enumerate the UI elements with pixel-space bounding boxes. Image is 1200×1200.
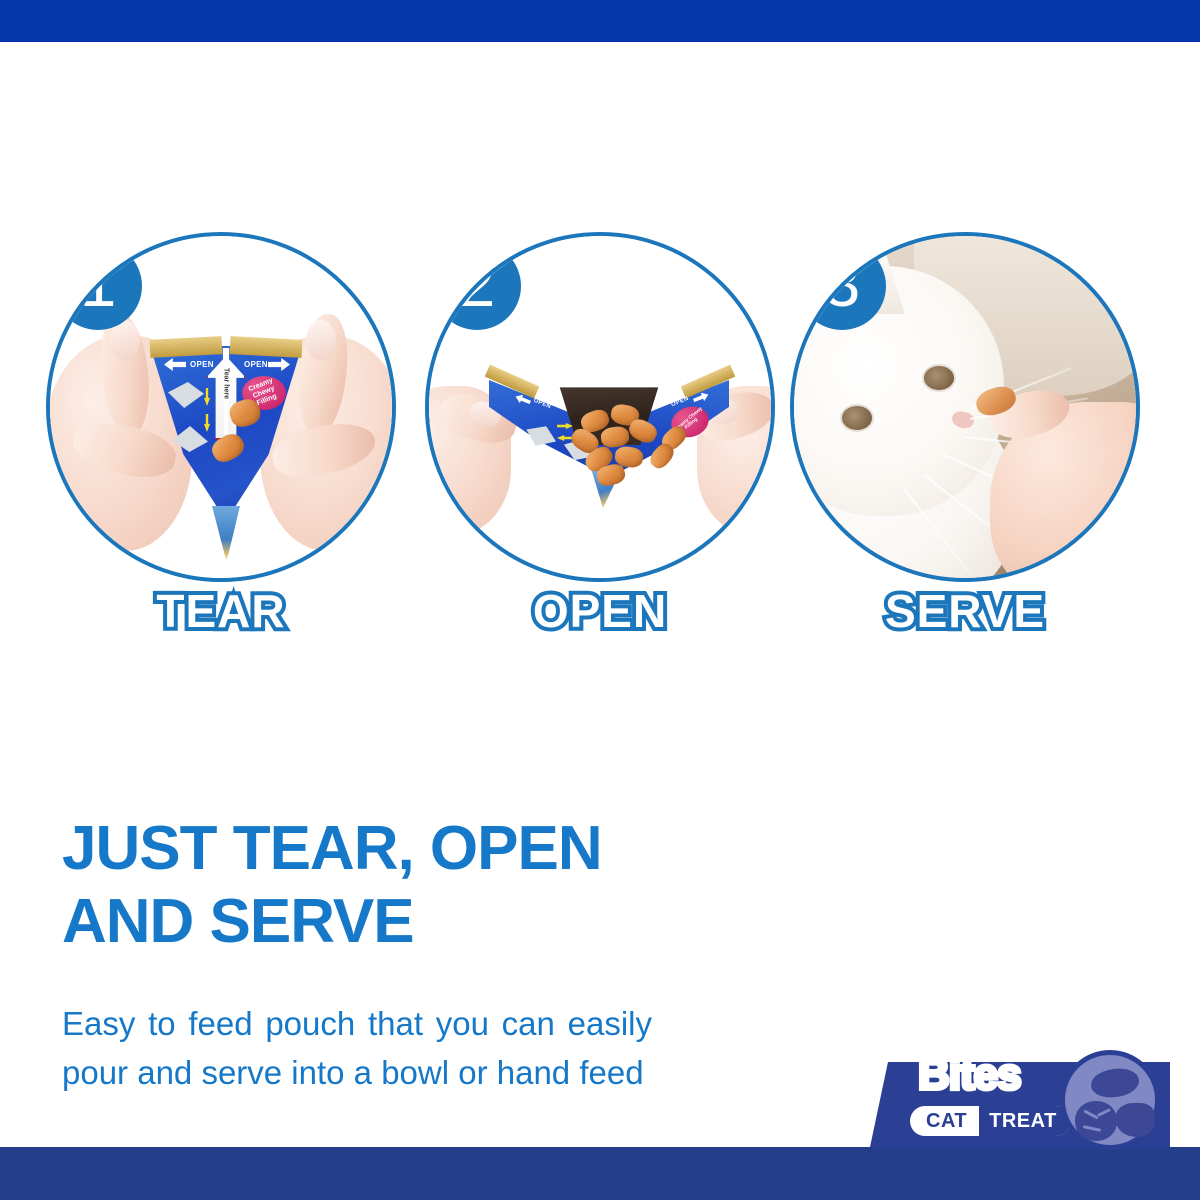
- steps-row: OPEN OPEN Tear here Creamy Chewy Filling: [0, 232, 1200, 662]
- treat-pouch: OPEN OPEN Tear here Creamy Chewy Filling: [150, 328, 302, 558]
- step-2-photo: OPEN OPEN Creamy Chewy Filling: [425, 232, 775, 582]
- brand-name: Bites: [918, 1050, 1021, 1100]
- step-3-photo: 3: [790, 232, 1140, 582]
- step-number-badge-2: 2: [433, 242, 521, 330]
- step-2: OPEN OPEN Creamy Chewy Filling: [425, 232, 775, 662]
- top-accent-bar: [0, 0, 1200, 42]
- step-number-badge-3: 3: [798, 242, 886, 330]
- tear-here-label: Tear here: [223, 364, 230, 404]
- step-number-3: 3: [824, 250, 861, 316]
- pouch-foil-left: [150, 336, 223, 358]
- step-1-photo: OPEN OPEN Tear here Creamy Chewy Filling: [46, 232, 396, 582]
- step-caption-2: OPEN: [425, 584, 775, 638]
- step-number-2: 2: [459, 250, 496, 316]
- body-text: Easy to feed pouch that you can easily p…: [62, 1000, 652, 1098]
- brand-subtitle: CAT TREAT: [910, 1106, 1071, 1136]
- headline-line-1: JUST TEAR, OPEN: [62, 812, 762, 885]
- opened-pouch: OPEN OPEN Creamy Chewy Filling: [489, 371, 729, 501]
- step-number-badge-1: 1: [54, 242, 142, 330]
- step-number-1: 1: [80, 250, 117, 316]
- pouch-tip: [212, 506, 240, 562]
- pouch-foil-right: [230, 336, 303, 358]
- bottom-accent-bar: [0, 1147, 1200, 1200]
- pouch-open-label-left: OPEN: [190, 360, 214, 369]
- cat-eye-left: [840, 404, 874, 432]
- step-caption-3: SERVE: [790, 584, 1140, 638]
- step-caption-1: TEAR: [46, 584, 396, 638]
- step-3: 3 SERVE: [790, 232, 1140, 662]
- pouch-open-label-right: OPEN: [244, 360, 268, 369]
- treats-circle-icon: [1060, 1050, 1160, 1150]
- headline-line-2: AND SERVE: [62, 885, 762, 958]
- brand-logo: Bites CAT TREAT: [870, 1062, 1200, 1147]
- brand-treat-label: TREAT: [979, 1106, 1071, 1136]
- right-thumbnail: [306, 320, 336, 360]
- treat-shape-top: [1089, 1066, 1140, 1100]
- step-1: OPEN OPEN Tear here Creamy Chewy Filling: [46, 232, 396, 662]
- treat-shape-left: [1075, 1101, 1117, 1141]
- treat-shape-right: [1115, 1103, 1155, 1137]
- cat-eye-right: [922, 364, 956, 392]
- headline: JUST TEAR, OPEN AND SERVE: [62, 812, 762, 958]
- brand-cat-label: CAT: [910, 1106, 979, 1136]
